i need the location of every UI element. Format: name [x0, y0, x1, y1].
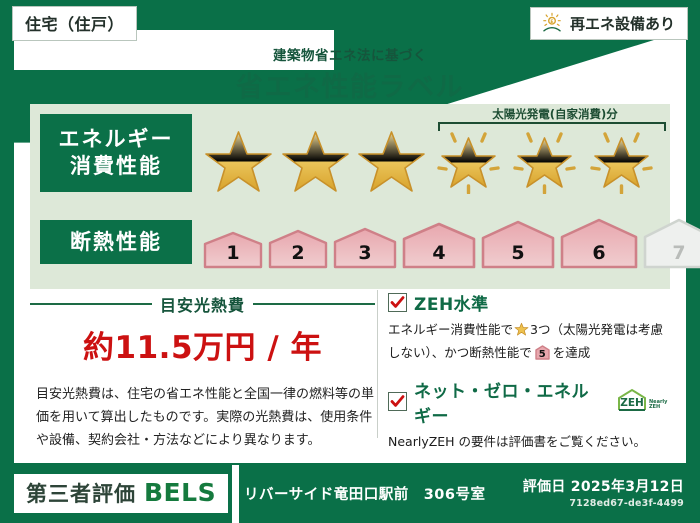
bels-chip: 第三者評価 BELS: [14, 474, 228, 513]
house-level-6: 6: [559, 217, 639, 270]
utility-cost-block: 目安光熱費 約11.5万円 / 年 目安光熱費は、住宅の省エネ性能と全国一律の燃…: [30, 292, 375, 452]
bels-prefix-label: 第三者評価: [26, 478, 136, 508]
house-level-3-number: 3: [332, 242, 398, 264]
renewable-badge: E 再エネ設備あり: [530, 7, 688, 40]
footer-white-tab: [232, 465, 239, 523]
label-frame: 住宅（住戸） E 再エネ設備あり 建築物省エネ法に基づく: [0, 0, 700, 523]
insulation-label: 断熱性能: [40, 229, 192, 256]
checkbox-checked-icon: [388, 392, 407, 411]
claim-zeh-level-title: ZEH水準: [414, 290, 489, 315]
star-icon-inline: [514, 325, 529, 340]
evaluation-info: 評価日 2025年3月12日 7128ed67-de3f-4499: [523, 476, 684, 509]
category-chip: 住宅（住戸）: [12, 6, 137, 41]
house-level-7-number: 7: [642, 242, 700, 264]
claim-zeh-body-part-a: エネルギー消費性能で: [388, 322, 513, 337]
claim-zeh-level: ZEH水準 エネルギー消費性能で3つ（太陽光発電は考慮しない）、かつ断熱性能で5…: [388, 290, 670, 364]
svg-text:E: E: [550, 19, 553, 25]
utility-cost-heading-label: 目安光熱費: [160, 292, 245, 316]
house-level-4: 4: [401, 221, 477, 270]
claims-block: ZEH水準 エネルギー消費性能で3つ（太陽光発電は考慮しない）、かつ断熱性能で5…: [388, 290, 670, 465]
house-level-7: 7: [642, 217, 700, 270]
house-level-2-number: 2: [267, 242, 329, 264]
house-level-1-number: 1: [202, 242, 264, 264]
house-level-5: 5: [480, 219, 556, 270]
house-level-4-number: 4: [401, 242, 477, 264]
svg-text:ZEH: ZEH: [649, 404, 660, 410]
title-main: 省エネ性能ラベル: [0, 65, 700, 104]
energy-label-line2: 消費性能: [40, 153, 192, 180]
house-level-1: 1: [202, 230, 264, 270]
star-icon: [279, 124, 352, 194]
svg-text:ZEH: ZEH: [620, 397, 644, 409]
star-icon-solar: [508, 124, 581, 194]
claim-net-zero-head: ネット・ゼロ・エネルギー ZEH Nearly ZEH: [388, 377, 670, 427]
label-title: 建築物省エネ法に基づく 省エネ性能ラベル: [0, 44, 700, 104]
heading-rule-left: [30, 303, 152, 305]
energy-label-line1: エネルギー: [40, 126, 192, 153]
property-address: リバーサイド竜田口駅前 306号室: [244, 483, 485, 504]
sun-icon: E: [541, 12, 563, 34]
energy-star-rating: [202, 124, 657, 194]
house-level-5-number: 5: [480, 242, 556, 264]
house-icon-inline-number: 5: [534, 347, 551, 363]
title-subtitle: 建築物省エネ法に基づく: [0, 44, 700, 64]
energy-row-label: エネルギー 消費性能: [40, 114, 192, 192]
insulation-row-label: 断熱性能: [40, 220, 192, 264]
performance-panel: エネルギー 消費性能 太陽光発電(自家消費)分: [30, 104, 670, 289]
star-icon-solar: [585, 124, 658, 194]
utility-cost-heading: 目安光熱費: [30, 292, 375, 316]
bels-name-label: BELS: [144, 478, 216, 507]
checkbox-checked-icon: [388, 293, 407, 312]
star-icon-solar: [432, 124, 505, 194]
label-footer: 第三者評価 BELS リバーサイド竜田口駅前 306号室 評価日 2025年3月…: [0, 465, 700, 523]
house-icon-inline: 5: [534, 344, 551, 361]
claim-net-zero-energy: ネット・ゼロ・エネルギー ZEH Nearly ZEH NearlyZEH の要…: [388, 377, 670, 452]
utility-cost-value: 約11.5万円 / 年: [30, 322, 375, 367]
claim-net-zero-title: ネット・ゼロ・エネルギー: [414, 377, 606, 427]
heading-rule-right: [253, 303, 375, 305]
house-level-2: 2: [267, 228, 329, 270]
category-chip-label: 住宅（住戸）: [25, 15, 124, 34]
zeh-nearly-logo-icon: ZEH Nearly ZEH: [616, 387, 670, 417]
claim-zeh-level-body: エネルギー消費性能で3つ（太陽光発電は考慮しない）、かつ断熱性能で5を達成: [388, 320, 670, 364]
section-divider: [377, 290, 378, 438]
renewable-badge-label: 再エネ設備あり: [570, 13, 675, 34]
claim-zeh-body-part-b: を達成: [553, 345, 591, 360]
house-level-3: 3: [332, 226, 398, 270]
star-icon: [202, 124, 275, 194]
house-level-6-number: 6: [559, 242, 639, 264]
evaluation-date: 評価日 2025年3月12日: [523, 476, 684, 496]
utility-cost-note: 目安光熱費は、住宅の省エネ性能と全国一律の燃料等の単価を用いて算出したものです。…: [30, 383, 375, 452]
claim-zeh-level-head: ZEH水準: [388, 290, 670, 315]
evaluation-id: 7128ed67-de3f-4499: [523, 498, 684, 509]
insulation-scale: 1 2 3 4 5 6 7: [202, 216, 700, 270]
solar-bracket-label: 太陽光発電(自家消費)分: [430, 106, 680, 122]
claim-net-zero-body: NearlyZEH の要件は評価書をご覧ください。: [388, 432, 670, 452]
star-icon: [355, 124, 428, 194]
